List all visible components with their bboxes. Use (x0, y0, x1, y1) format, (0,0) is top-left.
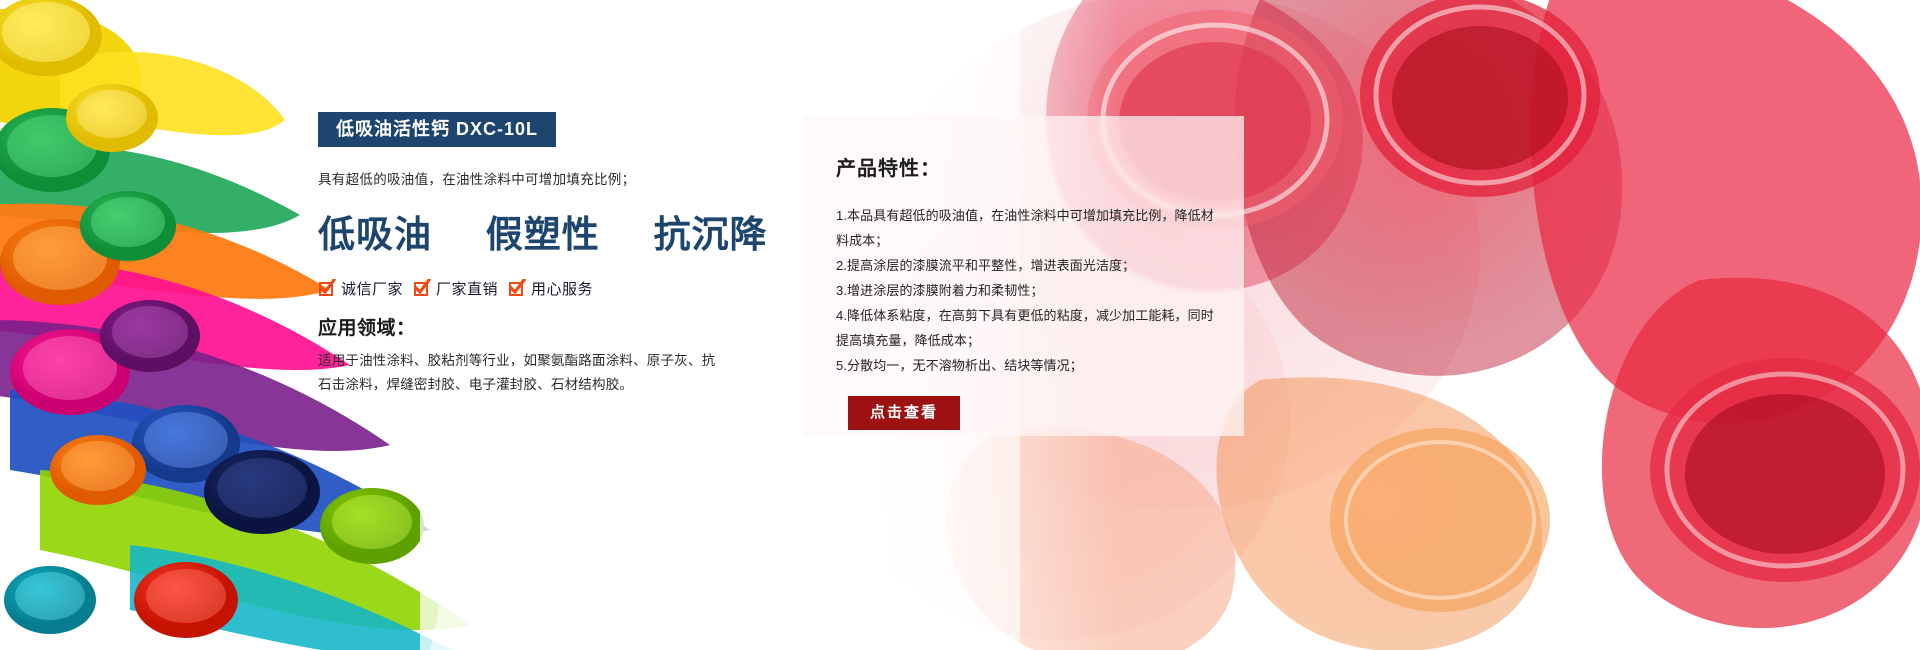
trust-badge-3: 用心服务 (508, 278, 593, 299)
trust-badge-label: 用心服务 (531, 278, 593, 299)
features-title: 产品特性： (836, 152, 1214, 181)
trust-badge-2: 厂家直销 (413, 278, 498, 299)
left-content-column: 低吸油活性钙 DXC-10L 具有超低的吸油值，在油性涂料中可增加填充比例； 低… (318, 112, 738, 397)
view-details-button[interactable]: 点击查看 (848, 396, 960, 430)
keyword-2: 假塑性 (486, 204, 600, 258)
trust-badge-label: 厂家直销 (436, 278, 498, 299)
product-subline: 具有超低的吸油值，在油性涂料中可增加填充比例； (318, 168, 738, 188)
checkbox-checked-icon (318, 280, 335, 297)
trust-badge-row: 诚信厂家 厂家直销 用心服务 (318, 278, 738, 299)
application-description: 适用于油性涂料、胶粘剂等行业，如聚氨酯路面涂料、原子灰、抗石击涂料，焊缝密封胶、… (318, 349, 718, 397)
feature-item-3: 3.增进涂层的漆膜附着力和柔韧性； (836, 278, 1214, 303)
features-list: 1.本品具有超低的吸油值，在油性涂料中可增加填充比例，降低材料成本； 2.提高涂… (836, 203, 1214, 378)
feature-item-5: 5.分散均一，无不溶物析出、结块等情况； (836, 353, 1214, 378)
feature-item-2: 2.提高涂层的漆膜流平和平整性，增进表面光洁度； (836, 253, 1214, 278)
trust-badge-1: 诚信厂家 (318, 278, 403, 299)
checkbox-checked-icon (413, 280, 430, 297)
feature-item-1: 1.本品具有超低的吸油值，在油性涂料中可增加填充比例，降低材料成本； (836, 203, 1214, 253)
panel-inner: 产品特性： 1.本品具有超低的吸油值，在油性涂料中可增加填充比例，降低材料成本；… (804, 116, 1244, 430)
keyword-1: 低吸油 (318, 204, 432, 258)
checkbox-checked-icon (508, 280, 525, 297)
product-features-panel: 产品特性： 1.本品具有超低的吸油值，在油性涂料中可增加填充比例，降低材料成本；… (804, 116, 1244, 436)
product-banner: 低吸油活性钙 DXC-10L 具有超低的吸油值，在油性涂料中可增加填充比例； 低… (0, 0, 1920, 650)
product-title-chip: 低吸油活性钙 DXC-10L (318, 112, 556, 147)
application-section-title: 应用领域： (318, 313, 738, 340)
keyword-row: 低吸油 假塑性 抗沉降 (318, 204, 738, 258)
feature-item-4: 4.降低体系粘度，在高剪下具有更低的粘度，减少加工能耗，同时提高填充量，降低成本… (836, 303, 1214, 353)
keyword-3: 抗沉降 (654, 204, 768, 258)
trust-badge-label: 诚信厂家 (341, 278, 403, 299)
